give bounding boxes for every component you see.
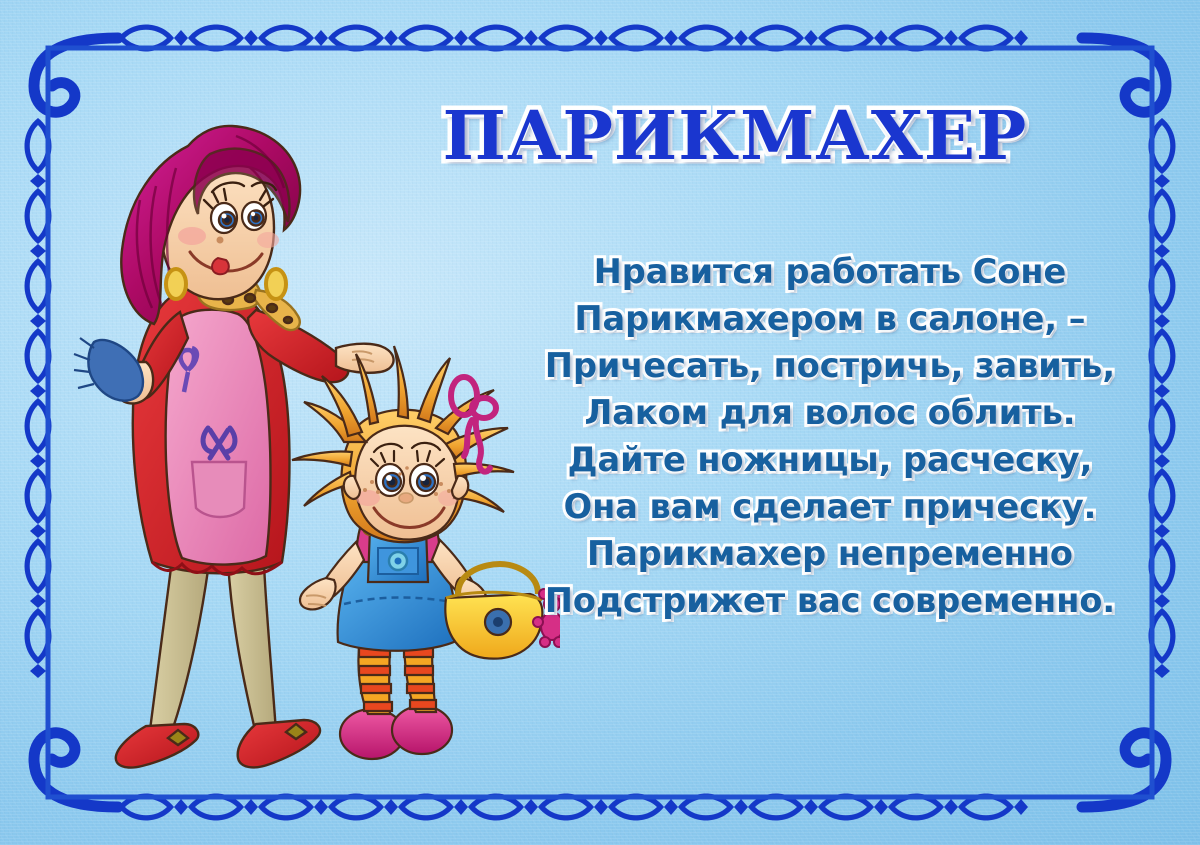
poem-line-2: Парикмахером в салоне, –: [540, 295, 1120, 342]
page-title: ПАРИКМАХЕР: [443, 96, 1028, 175]
border-bottom-chain: [118, 794, 1028, 821]
woman-cheek-right: [257, 232, 279, 248]
border-top-chain: [118, 25, 1028, 52]
poster: ПАРИКМАХЕР Нравится работать Соне Парикм…: [0, 0, 1200, 845]
woman-nose: [217, 237, 224, 244]
poem-line-5: Дайте ножницы, расческу,: [540, 436, 1120, 483]
girl-shoes: [340, 706, 452, 759]
girl-nose: [399, 493, 413, 503]
woman-red-shoes: [116, 720, 320, 768]
woman-tongue: [212, 258, 229, 274]
poem-line-1: Нравится работать Соне: [540, 248, 1120, 295]
poem-line-3: Причесать, постричь, завить,: [540, 342, 1120, 389]
poem-line-6: Она вам сделает прическу.: [540, 483, 1120, 530]
woman-right-hand: [336, 344, 394, 373]
poem-block: Нравится работать Соне Парикмахером в са…: [540, 248, 1120, 624]
poem-line-8: Подстрижет вас современно.: [540, 577, 1120, 624]
woman-cheek-left: [178, 227, 206, 245]
girl-client: [292, 346, 560, 759]
apron-pocket: [192, 462, 246, 517]
bag-flower: [485, 609, 511, 635]
border-left-chain: [25, 118, 52, 678]
comb-icon: [74, 338, 143, 401]
border-right-chain: [1149, 118, 1176, 678]
poem-line-7: Парикмахер непременно: [540, 530, 1120, 577]
poem-line-4: Лаком для волос облить.: [540, 389, 1120, 436]
woman-legs: [150, 560, 276, 747]
title-container: ПАРИКМАХЕР: [440, 95, 1030, 175]
girl-handbag: [445, 564, 542, 659]
illustration-hairdresser-and-girl: [60, 70, 560, 790]
